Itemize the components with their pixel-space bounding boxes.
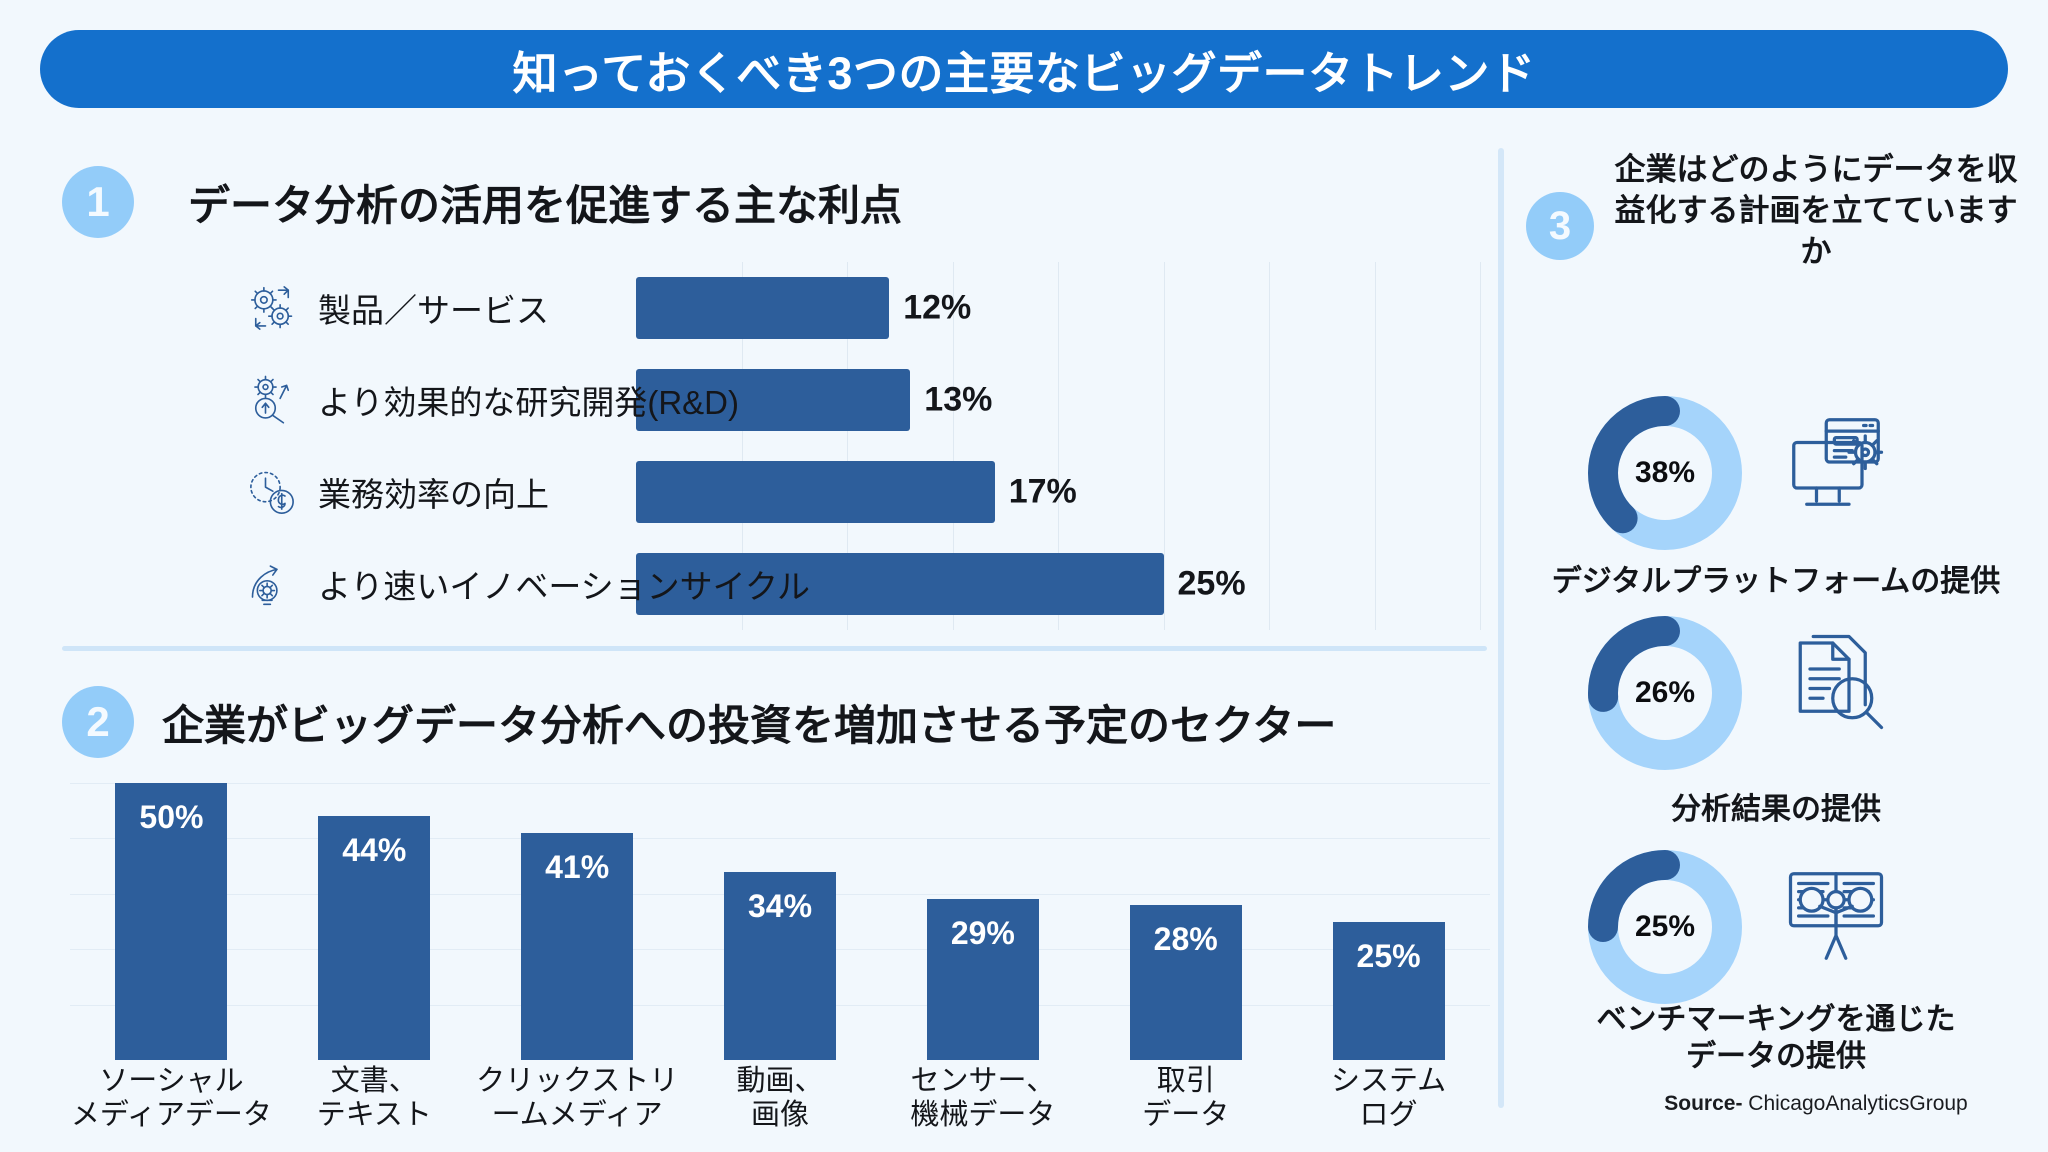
donut-item: 38% — [1516, 394, 2036, 552]
hbar-fill — [636, 461, 995, 523]
column-value-label: 29% — [927, 915, 1039, 952]
hbar-category-label: より効果的な研究開発(R&D) — [318, 376, 739, 424]
hbar-row: 業務効率の向上17% — [240, 446, 1480, 538]
donut-chart: 26% — [1586, 614, 1744, 772]
hbar-value-label: 17% — [1009, 473, 1077, 512]
document-search-icon — [1784, 630, 1904, 750]
hbar-track: 13% — [636, 354, 1480, 446]
column-x-label: ソーシャルメディアデータ — [66, 1064, 276, 1132]
donut-chart: 25% — [1586, 848, 1744, 1006]
hbar-value-label: 25% — [1178, 565, 1246, 604]
donut-value-label: 26% — [1586, 614, 1744, 772]
hbar-value-label: 12% — [903, 289, 971, 328]
hbar-row: 製品／サービス12% — [240, 262, 1480, 354]
section-2-heading: 企業がビッグデータ分析への投資を増加させる予定のセクター — [162, 692, 1336, 753]
donut-item: 26% — [1516, 614, 2036, 772]
horizontal-bar-chart: 製品／サービス12%より効果的な研究開発(R&D)13%業務効率の向上17%より… — [240, 262, 1480, 630]
section-3-heading: 企業はどのようにデータを収益化する計画を立てていますか — [1600, 150, 2032, 273]
gridline — [70, 783, 1490, 784]
lightbulb-arrow-icon — [240, 552, 304, 616]
donut-caption: デジタルプラットフォームの提供 — [1516, 564, 2036, 601]
section-3-badge: 3 — [1526, 192, 1594, 260]
source-attribution: Source- ChicagoAnalyticsGroup — [1600, 1092, 2032, 1116]
hbar-value-label: 13% — [924, 381, 992, 420]
column-x-label: クリックストリームメディア — [472, 1064, 682, 1132]
vertical-divider — [1498, 148, 1504, 1108]
column-bar: 29% — [927, 899, 1039, 1060]
gridline — [1480, 262, 1481, 630]
hbar-category-label: より速いイノベーションサイクル — [318, 560, 810, 608]
hbar-category-label: 製品／サービス — [318, 284, 549, 332]
donut-value-label: 25% — [1586, 848, 1744, 1006]
column-x-label: センサー、機械データ — [878, 1064, 1088, 1132]
column-bar: 34% — [724, 872, 836, 1060]
column-bar: 28% — [1130, 905, 1242, 1060]
donut-item: 25% — [1516, 848, 2036, 1006]
header-banner: 知っておくべき3つの主要なビッグデータトレンド — [40, 30, 2008, 108]
column-x-label: 取引データ — [1081, 1064, 1291, 1132]
hbar-track: 17% — [636, 446, 1480, 538]
page-title: 知っておくべき3つの主要なビッグデータトレンド — [513, 37, 1536, 102]
section-1-badge: 1 — [62, 166, 134, 238]
column-bar: 44% — [318, 816, 430, 1060]
column-x-label: 動画、画像 — [675, 1064, 885, 1132]
donut-caption: ベンチマーキングを通じたデータの提供 — [1516, 1002, 2036, 1075]
column-value-label: 34% — [724, 888, 836, 925]
section-2-badge: 2 — [62, 686, 134, 758]
column-value-label: 50% — [115, 799, 227, 836]
presentation-people-icon — [1784, 864, 1904, 984]
infographic-root: 知っておくべき3つの主要なビッグデータトレンド 1 データ分析の活用を促進する主… — [0, 0, 2048, 1152]
column-chart: 50%44%41%34%29%28%25% — [70, 772, 1490, 1060]
column-bar: 50% — [115, 783, 227, 1060]
gear-magnifier-icon — [240, 368, 304, 432]
source-value: ChicagoAnalyticsGroup — [1748, 1092, 1967, 1115]
hbar-row: より速いイノベーションサイクル25% — [240, 538, 1480, 630]
clock-money-icon — [240, 460, 304, 524]
column-x-label: 文書、テキスト — [269, 1064, 479, 1132]
source-label: Source- — [1664, 1092, 1742, 1115]
hbar-category-label: 業務効率の向上 — [318, 468, 549, 516]
column-value-label: 28% — [1130, 921, 1242, 958]
column-bar: 41% — [521, 833, 633, 1060]
column-chart-plot: 50%44%41%34%29%28%25% — [70, 772, 1490, 1060]
donut-chart: 38% — [1586, 394, 1744, 552]
gridline — [70, 838, 1490, 839]
donut-caption: 分析結果の提供 — [1516, 792, 2036, 829]
column-value-label: 44% — [318, 832, 430, 869]
column-value-label: 25% — [1333, 938, 1445, 975]
column-value-label: 41% — [521, 849, 633, 886]
gears-refresh-icon — [240, 276, 304, 340]
donut-value-label: 38% — [1586, 394, 1744, 552]
column-x-label: システムログ — [1284, 1064, 1494, 1132]
column-bar: 25% — [1333, 922, 1445, 1060]
monitor-settings-icon — [1784, 410, 1904, 530]
hbar-fill — [636, 277, 889, 339]
section-1-heading: データ分析の活用を促進する主な利点 — [188, 172, 902, 233]
hbar-row: より効果的な研究開発(R&D)13% — [240, 354, 1480, 446]
hbar-track: 12% — [636, 262, 1480, 354]
horizontal-divider — [62, 646, 1487, 651]
